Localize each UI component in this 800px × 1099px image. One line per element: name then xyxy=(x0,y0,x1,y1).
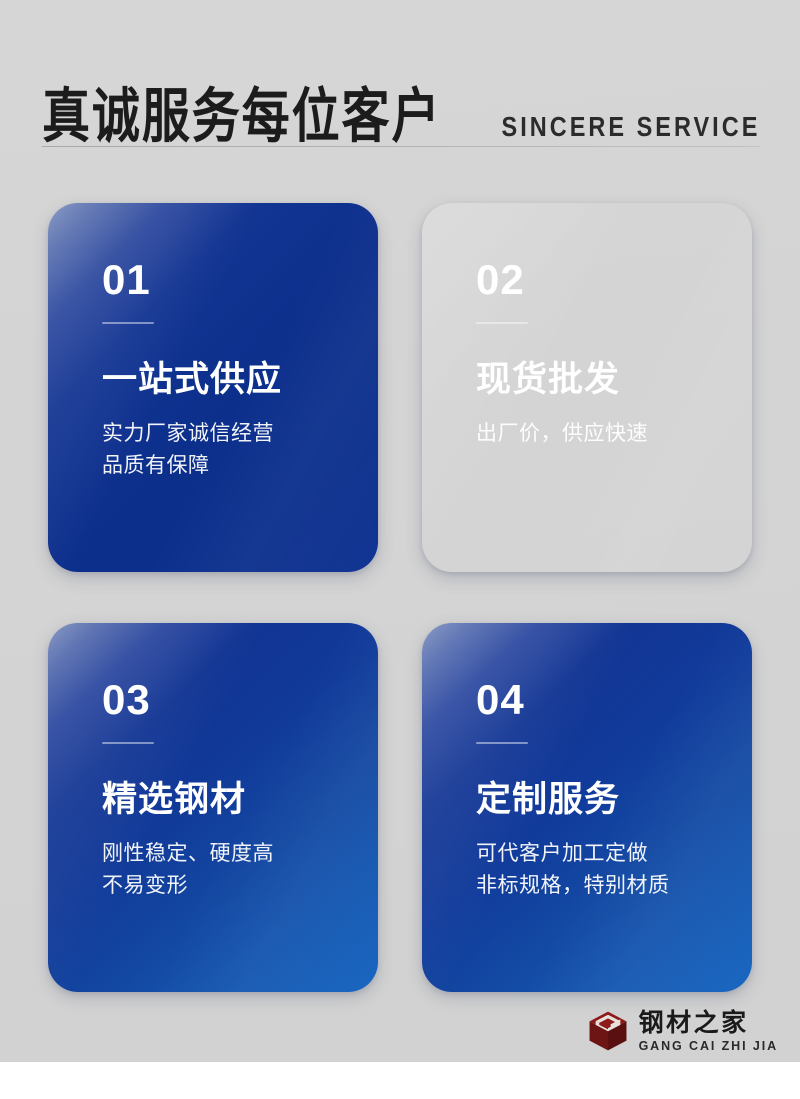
card-content: 04 定制服务 可代客户加工定做 非标规格，特别材质 xyxy=(422,623,752,902)
feature-card-03[interactable]: 03 精选钢材 刚性稳定、硬度高 不易变形 xyxy=(48,623,378,992)
card-title: 现货批发 xyxy=(476,361,752,400)
card-description-line: 刚性稳定、硬度高 xyxy=(102,837,378,870)
card-accent-divider xyxy=(476,322,528,324)
card-description-line: 实力厂家诚信经营 xyxy=(102,417,378,450)
card-title: 定制服务 xyxy=(476,781,752,820)
promo-poster: 真诚服务每位客户 SINCERE SERVICE 01 一站式供应 实力厂家诚信… xyxy=(0,0,800,1062)
feature-card-grid: 01 一站式供应 实力厂家诚信经营 品质有保障 02 现货批发 出厂价，供应快速 xyxy=(48,203,752,992)
card-description-line: 出厂价，供应快速 xyxy=(476,417,752,450)
card-description-line: 不易变形 xyxy=(102,869,378,902)
footer-white-strip xyxy=(0,1062,800,1099)
card-number: 01 xyxy=(102,259,378,301)
card-title: 精选钢材 xyxy=(102,781,378,820)
card-number: 03 xyxy=(102,679,378,721)
feature-card-01[interactable]: 01 一站式供应 实力厂家诚信经营 品质有保障 xyxy=(48,203,378,572)
card-description: 刚性稳定、硬度高 不易变形 xyxy=(102,837,378,902)
brand-logo[interactable]: 钢材之家 GANG CAI ZHI JIA xyxy=(586,1009,778,1053)
card-number: 04 xyxy=(476,679,752,721)
brand-name-cn: 钢材之家 xyxy=(639,1010,778,1036)
brand-name-en: GANG CAI ZHI JIA xyxy=(639,1040,778,1053)
card-description: 可代客户加工定做 非标规格，特别材质 xyxy=(476,837,752,902)
card-description: 出厂价，供应快速 xyxy=(476,417,752,450)
page-header: 真诚服务每位客户 SINCERE SERVICE xyxy=(42,58,760,146)
card-description-line: 品质有保障 xyxy=(102,449,378,482)
card-content: 02 现货批发 出厂价，供应快速 xyxy=(422,203,752,449)
page-title: 真诚服务每位客户 xyxy=(42,87,441,146)
header-divider xyxy=(42,146,760,147)
card-accent-divider xyxy=(102,742,154,744)
card-accent-divider xyxy=(102,322,154,324)
card-number: 02 xyxy=(476,259,752,301)
card-content: 03 精选钢材 刚性稳定、硬度高 不易变形 xyxy=(48,623,378,902)
red-cube-g-icon xyxy=(586,1009,630,1053)
card-description-line: 非标规格，特别材质 xyxy=(476,869,752,902)
card-description-line: 可代客户加工定做 xyxy=(476,837,752,870)
feature-card-04[interactable]: 04 定制服务 可代客户加工定做 非标规格，特别材质 xyxy=(422,623,752,992)
card-description: 实力厂家诚信经营 品质有保障 xyxy=(102,417,378,482)
card-title: 一站式供应 xyxy=(102,361,378,400)
card-accent-divider xyxy=(476,742,528,744)
page-subtitle-en: SINCERE SERVICE xyxy=(501,114,760,146)
feature-card-02[interactable]: 02 现货批发 出厂价，供应快速 xyxy=(422,203,752,572)
brand-logo-text: 钢材之家 GANG CAI ZHI JIA xyxy=(639,1010,778,1053)
card-content: 01 一站式供应 实力厂家诚信经营 品质有保障 xyxy=(48,203,378,482)
